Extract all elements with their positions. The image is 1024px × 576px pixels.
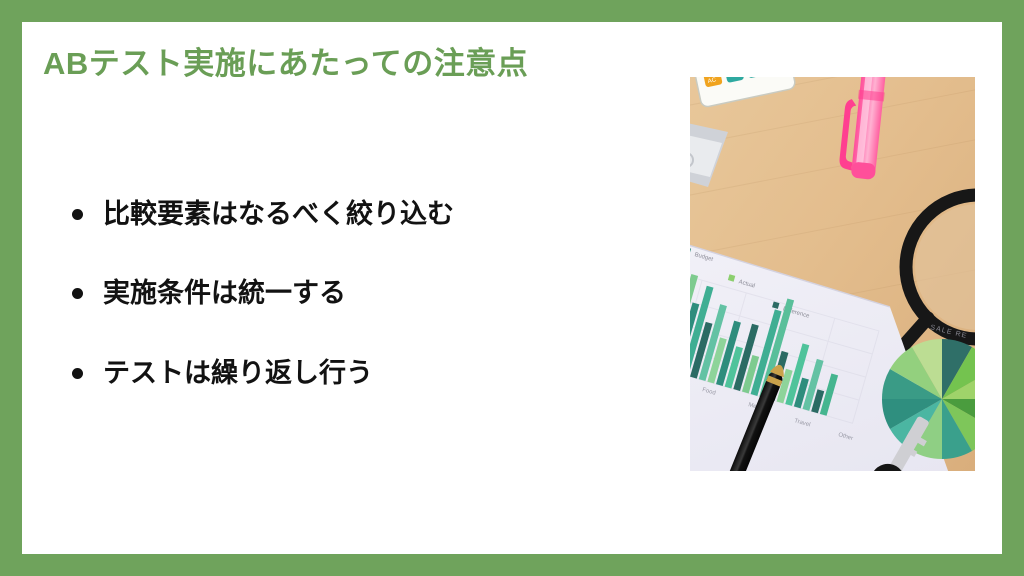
list-item-label: テストは繰り返し行う: [103, 358, 373, 388]
list-item: テストは繰り返し行う: [62, 355, 622, 391]
frame-border-bottom: [0, 554, 1024, 576]
frame-border-top: [0, 0, 1024, 22]
list-item-label: 実施条件は統一する: [103, 278, 346, 308]
frame-border-left: [0, 0, 22, 576]
frame-border-right: [1002, 0, 1024, 576]
bullet-dot-icon: [72, 288, 83, 299]
bullet-dot-icon: [72, 209, 83, 220]
list-item: 比較要素はなるべく絞り込む: [62, 196, 622, 232]
bullet-dot-icon: [72, 368, 83, 379]
list-item-label: 比較要素はなるべく絞り込む: [103, 199, 454, 229]
page-title: ABテスト実施にあたっての注意点: [43, 45, 528, 82]
bullet-list: 比較要素はなるべく絞り込む 実施条件は統一する テストは繰り返し行う: [62, 196, 622, 391]
decorative-photo: AC: [690, 77, 975, 471]
slide-canvas: AC: [0, 0, 1024, 576]
photo-artwork: AC: [690, 77, 975, 471]
list-item: 実施条件は統一する: [62, 275, 622, 311]
